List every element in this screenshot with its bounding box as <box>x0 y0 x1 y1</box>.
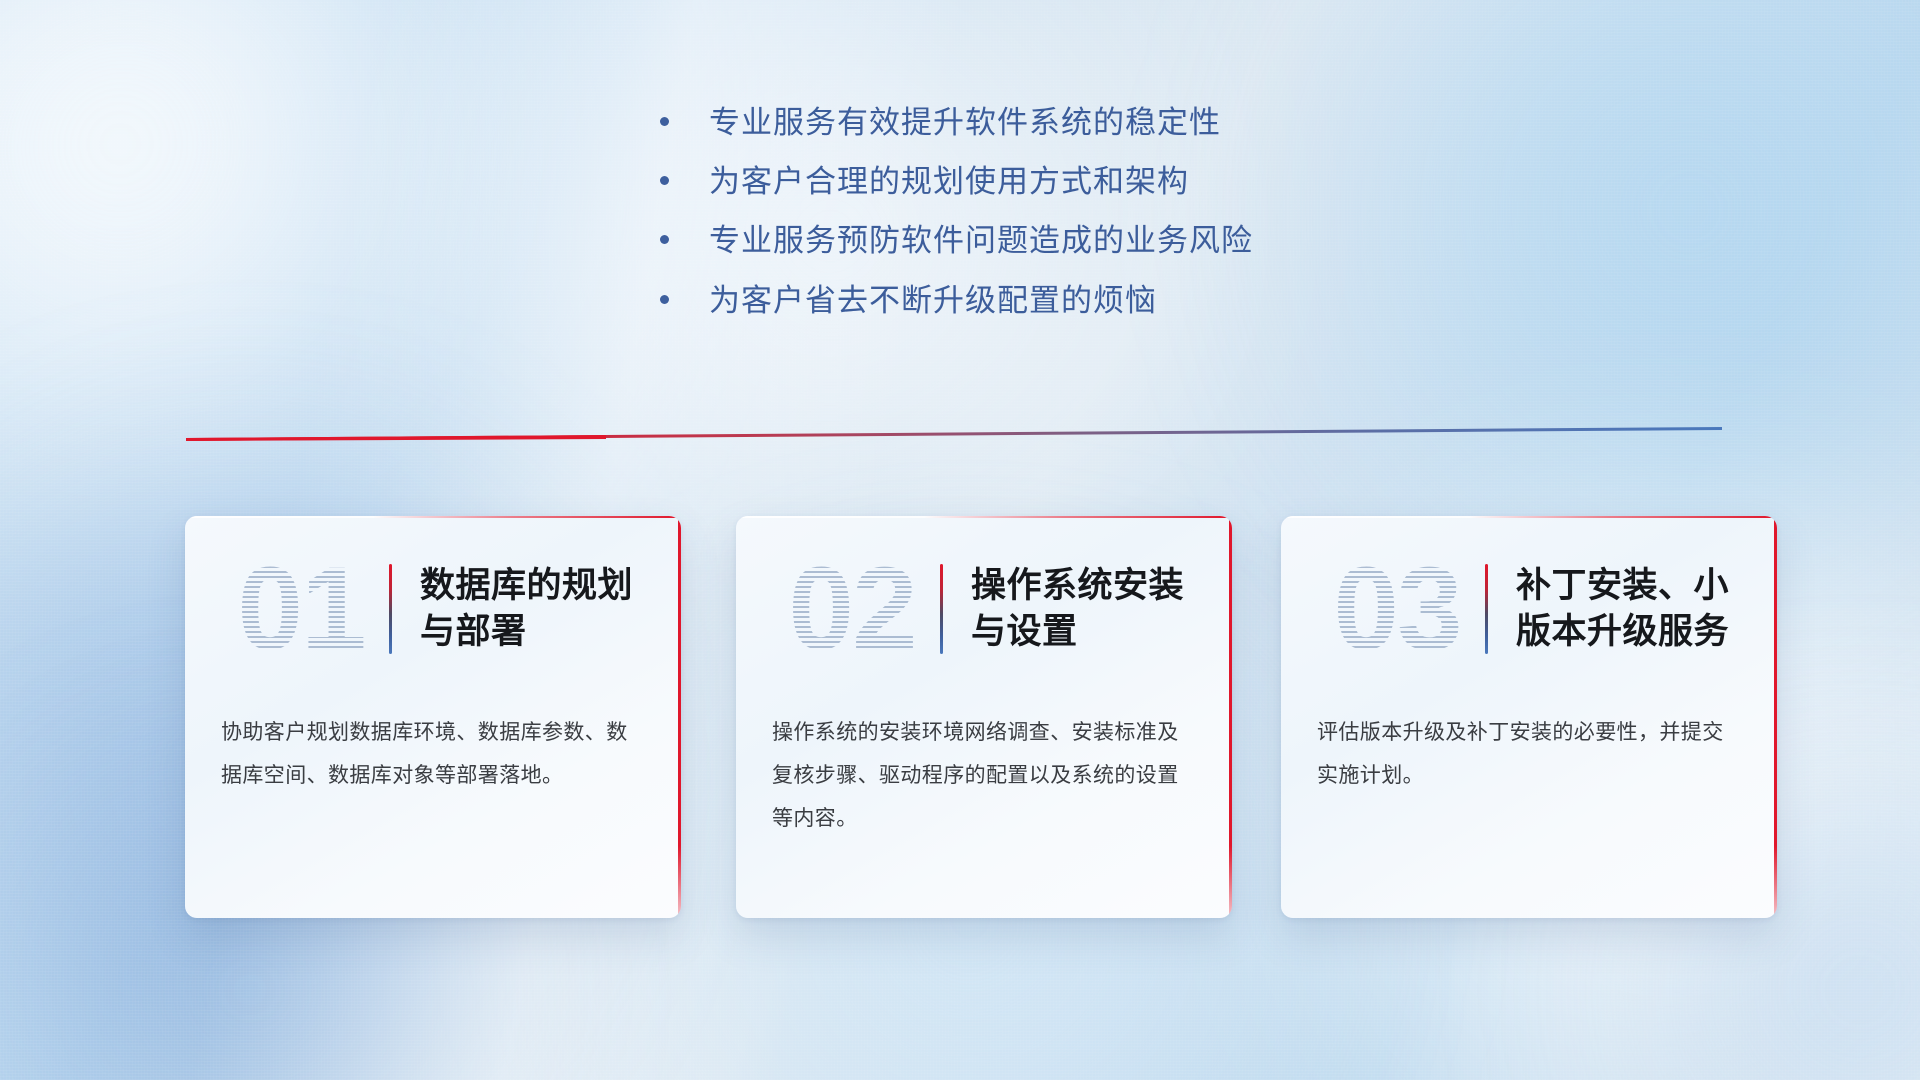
card-title: 补丁安装、小版本升级服务 <box>1516 563 1777 655</box>
bullet-item-label: 为客户合理的规划使用方式和架构 <box>709 163 1189 200</box>
section-divider <box>186 424 1722 442</box>
list-item: 为客户省去不断升级配置的烦恼 <box>660 282 1500 319</box>
card-number-label: 01 <box>237 551 364 667</box>
card-title-rule-icon <box>940 564 943 654</box>
bullet-item-label: 为客户省去不断升级配置的烦恼 <box>709 282 1157 319</box>
list-item: 专业服务有效提升软件系统的稳定性 <box>660 104 1500 141</box>
card-header: 03 补丁安装、小版本升级服务 <box>1281 516 1777 702</box>
card-title-rule-icon <box>1485 564 1488 654</box>
service-card-01[interactable]: 01 数据库的规划与部署 协助客户规划数据库环境、数据库参数、数据库空间、数据库… <box>185 516 681 918</box>
card-number-watermark: 03 <box>1315 551 1479 667</box>
card-title: 操作系统安装与设置 <box>971 563 1232 655</box>
card-title: 数据库的规划与部署 <box>420 563 681 655</box>
bullet-dot-icon <box>660 295 669 304</box>
card-number-watermark: 01 <box>219 551 383 667</box>
card-description: 评估版本升级及补丁安装的必要性，并提交实施计划。 <box>1317 712 1743 798</box>
card-number-label: 03 <box>1333 551 1460 667</box>
bullet-dot-icon <box>660 176 669 185</box>
service-cards-row: 01 数据库的规划与部署 协助客户规划数据库环境、数据库参数、数据库空间、数据库… <box>0 516 1920 936</box>
bullet-dot-icon <box>660 235 669 244</box>
divider-shape-icon <box>186 424 1722 442</box>
list-item: 专业服务预防软件问题造成的业务风险 <box>660 222 1500 259</box>
card-title-rule-icon <box>389 564 392 654</box>
card-number-watermark: 02 <box>770 551 934 667</box>
card-header: 02 操作系统安装与设置 <box>736 516 1232 702</box>
card-header: 01 数据库的规划与部署 <box>185 516 681 702</box>
card-description: 协助客户规划数据库环境、数据库参数、数据库空间、数据库对象等部署落地。 <box>221 712 647 798</box>
bullet-item-label: 专业服务预防软件问题造成的业务风险 <box>709 222 1253 259</box>
bullet-dot-icon <box>660 117 669 126</box>
benefits-bullet-list: 专业服务有效提升软件系统的稳定性 为客户合理的规划使用方式和架构 专业服务预防软… <box>660 104 1500 341</box>
service-card-03[interactable]: 03 补丁安装、小版本升级服务 评估版本升级及补丁安装的必要性，并提交实施计划。 <box>1281 516 1777 918</box>
list-item: 为客户合理的规划使用方式和架构 <box>660 163 1500 200</box>
card-description: 操作系统的安装环境网络调查、安装标准及复核步骤、驱动程序的配置以及系统的设置等内… <box>772 712 1198 840</box>
bullet-item-label: 专业服务有效提升软件系统的稳定性 <box>709 104 1221 141</box>
service-card-02[interactable]: 02 操作系统安装与设置 操作系统的安装环境网络调查、安装标准及复核步骤、驱动程… <box>736 516 1232 918</box>
card-number-label: 02 <box>788 551 915 667</box>
